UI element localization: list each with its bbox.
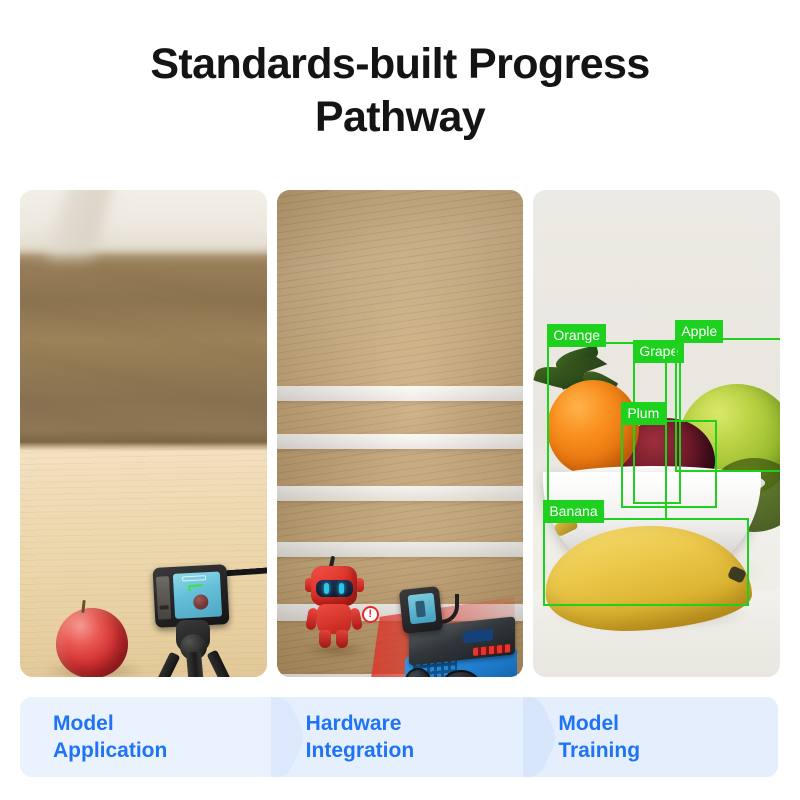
camera-screen <box>173 571 222 618</box>
usb-cable <box>222 566 267 605</box>
toy-robot-visor <box>316 580 353 597</box>
panel-model-training[interactable]: OrangeGrapeApplePlumBanana <box>533 190 780 677</box>
floor-plank <box>20 300 267 369</box>
red-apple <box>56 608 128 677</box>
panel-hardware-integration[interactable]: ! <box>277 190 524 677</box>
detection-label-plum: Plum <box>621 402 665 425</box>
panel-model-application[interactable] <box>20 190 267 677</box>
caption-segment-model-application[interactable]: Model Application <box>20 697 273 777</box>
panel1-blurred-floor <box>20 190 267 448</box>
camera-module <box>152 564 229 628</box>
chevron-right-icon <box>523 697 555 777</box>
caption-label: Model Application <box>20 710 167 764</box>
warning-badge-icon: ! <box>362 606 379 623</box>
toy-robot-eye-left <box>324 583 329 594</box>
detection-box-banana <box>543 518 749 606</box>
detection-label-orange: Orange <box>547 324 606 347</box>
toy-robot-eye-right <box>339 583 344 594</box>
floor-plank <box>60 260 267 320</box>
panel-row: ! <box>20 190 780 677</box>
table-edge <box>20 446 267 451</box>
detection-overlay: OrangeGrapeApplePlumBanana <box>533 190 780 677</box>
page-title: Standards-built Progress Pathway <box>60 38 740 144</box>
screen-detected-apple <box>193 594 209 610</box>
detection-label-apple: Apple <box>675 320 723 343</box>
toy-robot-leg-right <box>336 630 348 648</box>
pathway-caption-bar: Model Application Hardware Integration M… <box>20 697 778 777</box>
camera-side-panel <box>156 576 171 620</box>
camera-port <box>159 605 168 609</box>
caption-segment-model-training[interactable]: Model Training <box>525 697 778 777</box>
page-root: Standards-built Progress Pathway <box>0 0 800 800</box>
detection-corner-marker-icon <box>188 584 202 591</box>
floor-plank <box>20 350 267 419</box>
chevron-right-icon <box>271 697 303 777</box>
screen-detected-object <box>415 601 426 618</box>
detection-box-plum <box>621 420 717 508</box>
wheel-tread <box>413 676 423 677</box>
caption-segment-hardware-integration[interactable]: Hardware Integration <box>273 697 526 777</box>
screen-status-bar <box>182 575 206 581</box>
toy-robot-leg-left <box>319 630 331 648</box>
detection-label-banana: Banana <box>543 500 603 523</box>
